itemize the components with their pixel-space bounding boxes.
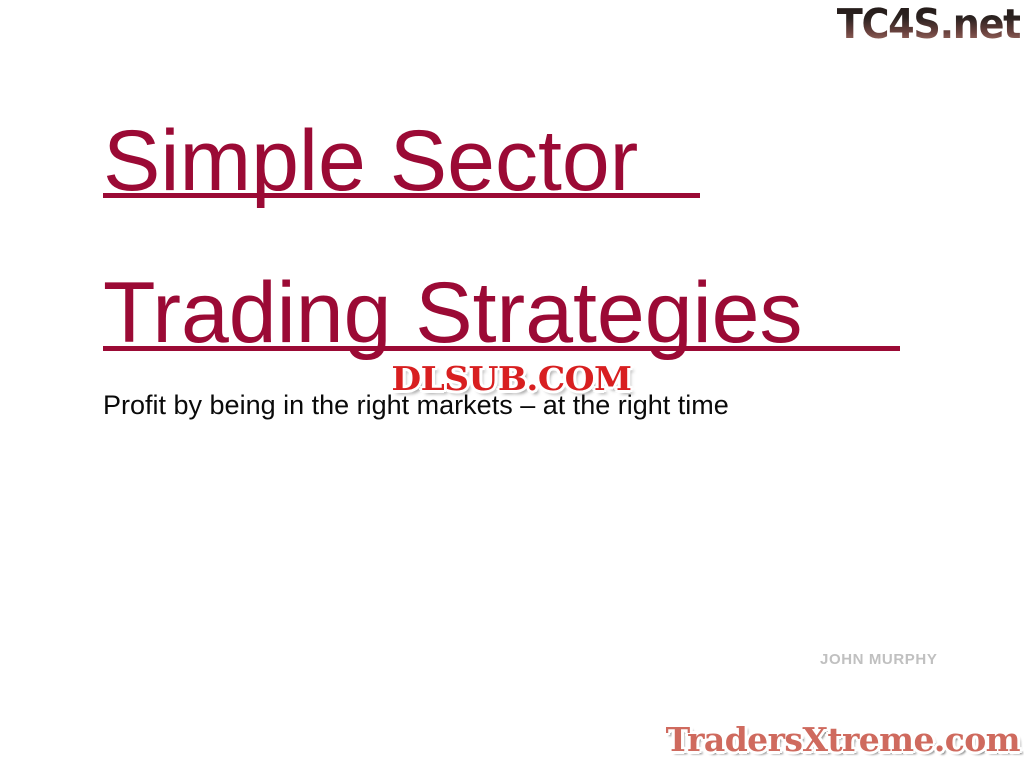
title-line-1: Simple Sector	[103, 118, 923, 204]
tradersxtreme-banner: TradersXtreme.com	[676, 718, 1020, 762]
tradersxtreme-banner-text: TradersXtreme.com	[666, 720, 1020, 760]
tc4s-logo-text: TC4S.net	[837, 2, 1020, 46]
tc4s-logo: TC4S.net	[824, 2, 1020, 46]
author-name: JOHN MURPHY	[820, 650, 970, 669]
title-underline-2	[103, 346, 900, 351]
title-underline-1	[103, 193, 700, 198]
title-line-2: Trading Strategies	[103, 270, 923, 356]
title-line-2-text: Trading Strategies	[103, 270, 803, 356]
presentation-slide: TC4S.net Simple Sector Trading Strategie…	[0, 0, 1024, 768]
subtitle: Profit by being in the right markets – a…	[103, 389, 963, 421]
title-line-1-text: Simple Sector	[103, 118, 638, 204]
page-title: Simple Sector Trading Strategies	[103, 104, 923, 356]
